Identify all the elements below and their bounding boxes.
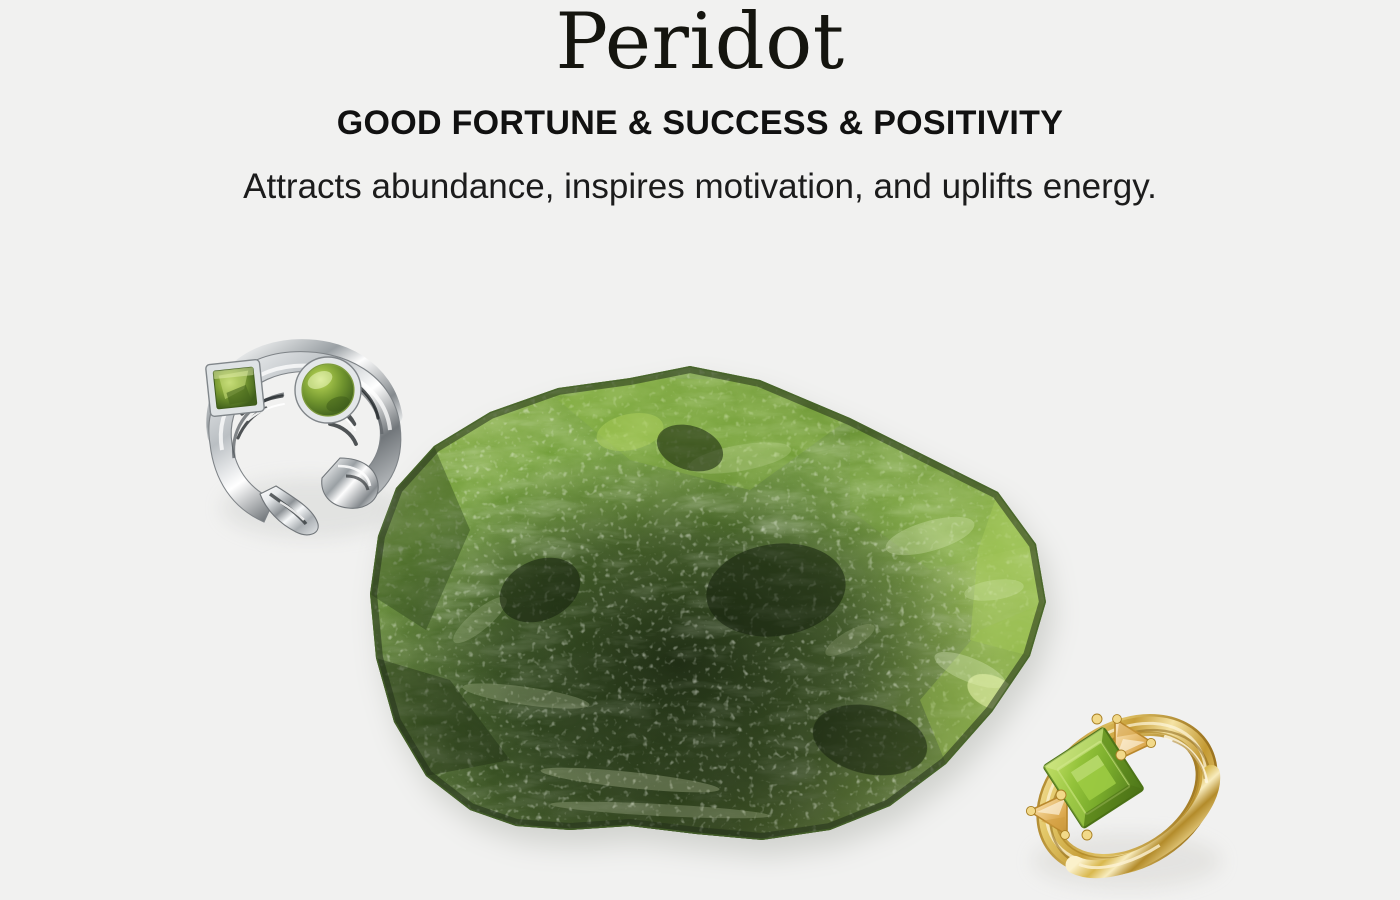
square-peridot-stone <box>205 359 264 416</box>
round-peridot-cabochon <box>295 357 361 423</box>
page-title: Peridot <box>0 0 1400 84</box>
peridot-hero-banner: Peridot GOOD FORTUNE & SUCCESS & POSITIV… <box>0 0 1400 900</box>
gem-description: Attracts abundance, inspires motivation,… <box>170 143 1230 211</box>
sterling-silver-peridot-ring <box>180 318 430 553</box>
hero-text-block: Peridot GOOD FORTUNE & SUCCESS & POSITIV… <box>0 0 1400 211</box>
gold-peridot-citrine-ring <box>995 675 1260 900</box>
rough-peridot-stone <box>330 340 1090 880</box>
gem-attributes-subtitle: GOOD FORTUNE & SUCCESS & POSITIVITY <box>0 84 1400 143</box>
